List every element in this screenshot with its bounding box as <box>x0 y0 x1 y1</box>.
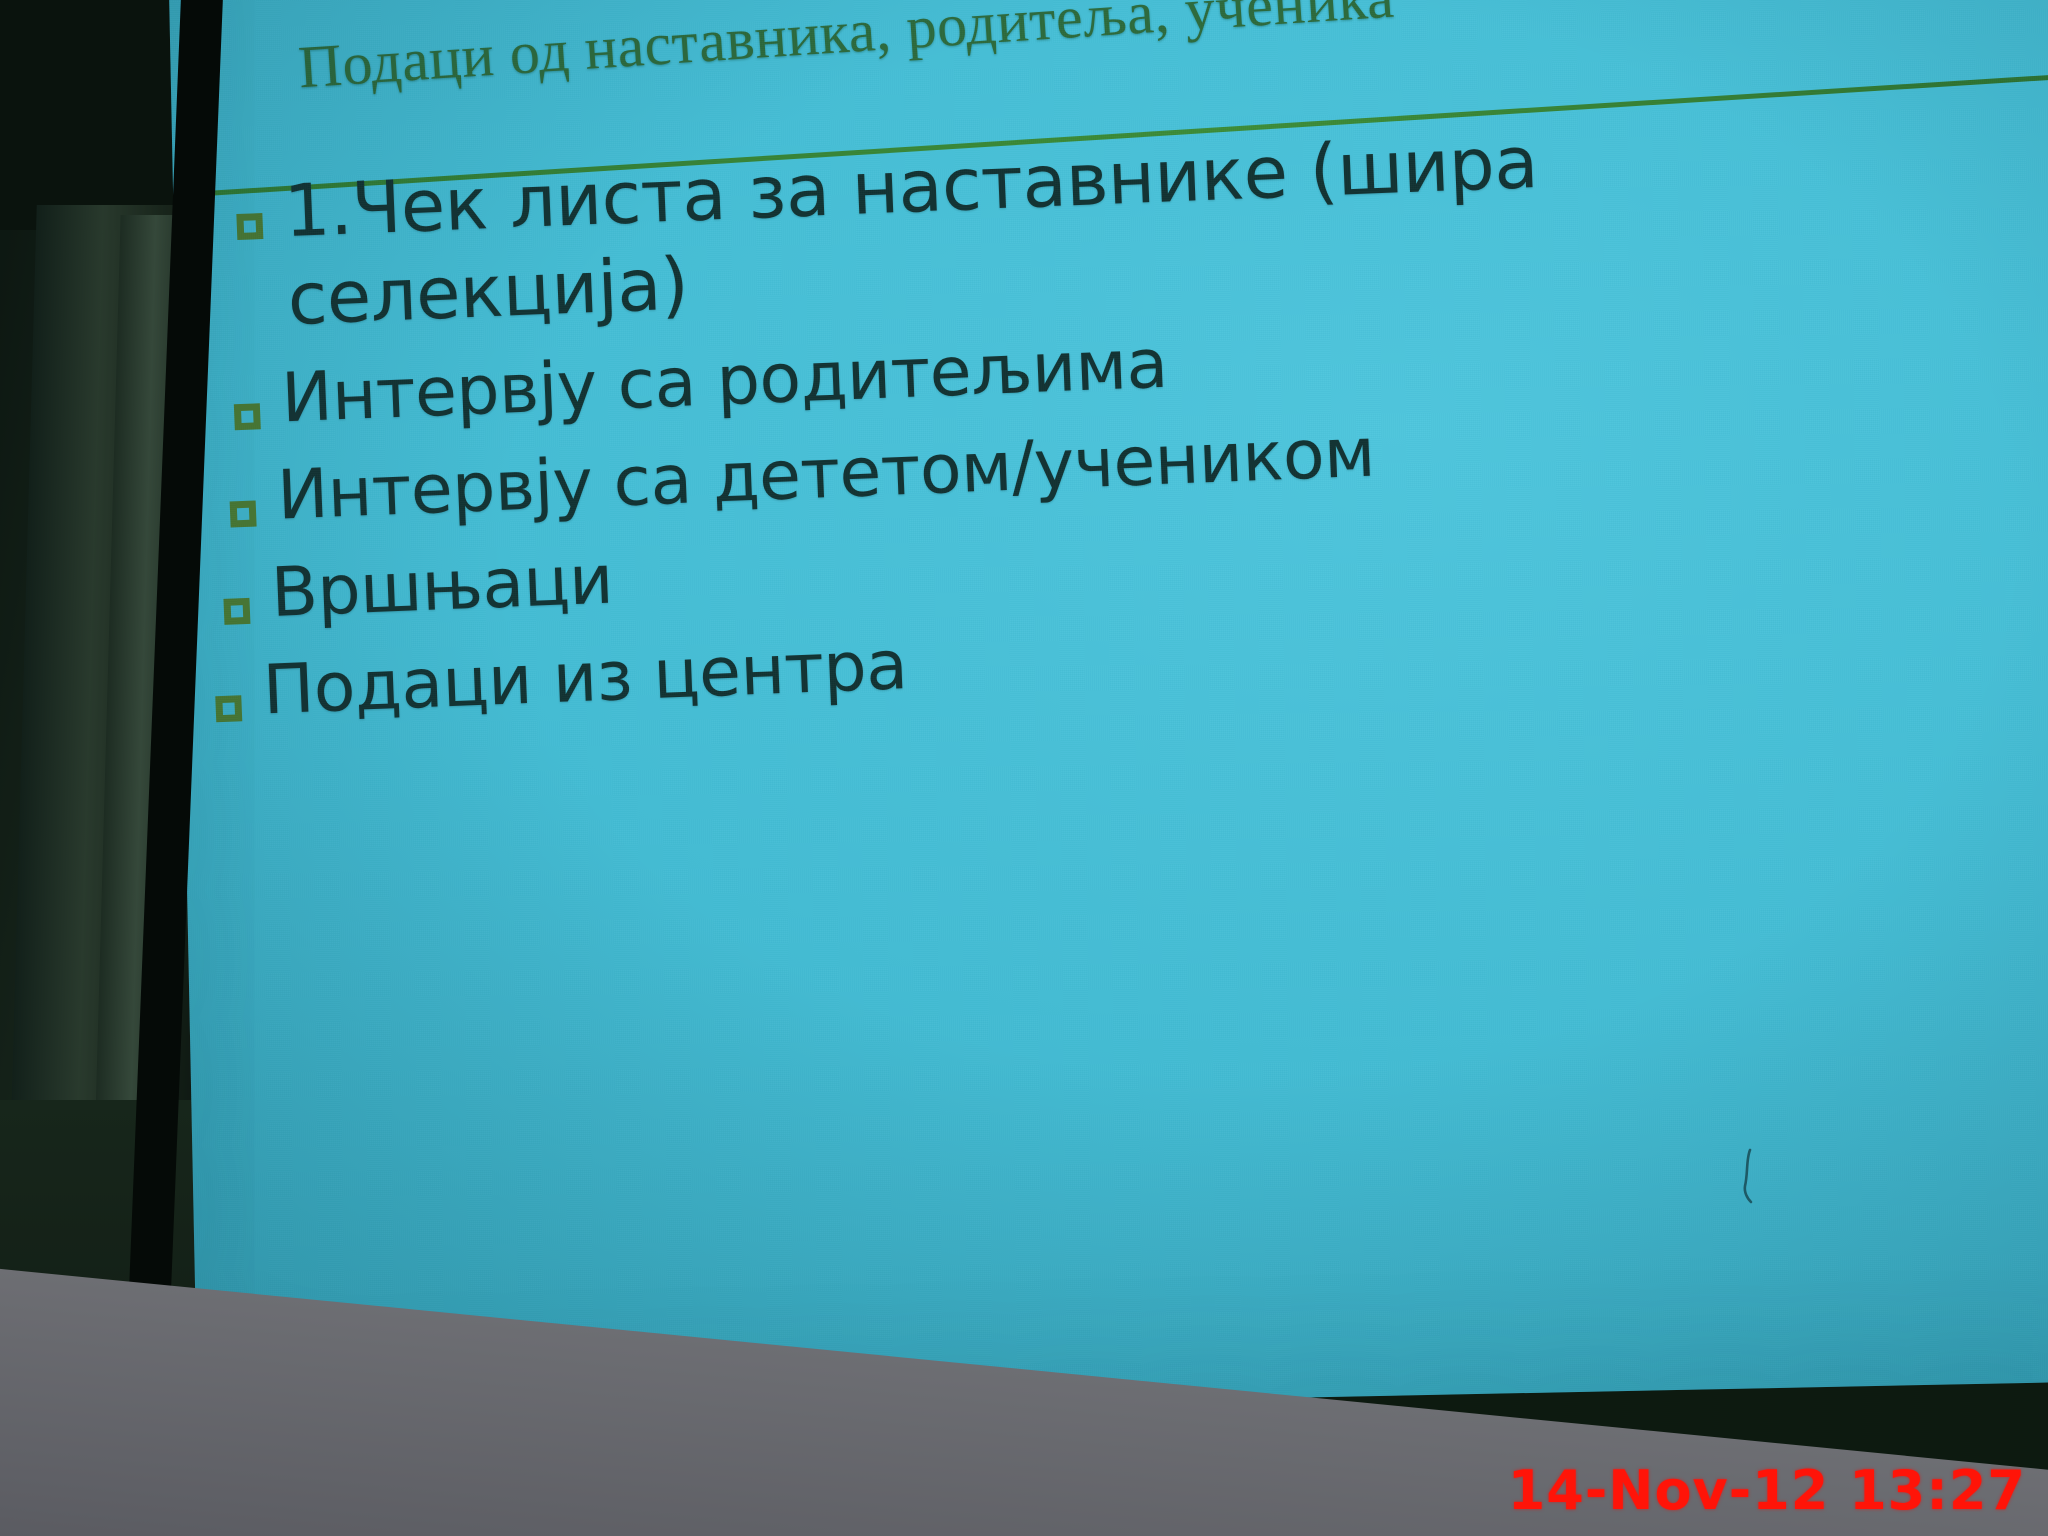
list-item-label: Интервју са родитељима <box>280 323 1169 441</box>
square-bullet-icon <box>215 695 242 722</box>
camera-datestamp: 14-Nov-12 13:27 <box>1508 1459 2026 1522</box>
square-bullet-icon <box>223 597 250 624</box>
list-item-label: Вршњаци <box>270 539 615 635</box>
square-bullet-icon <box>234 403 261 430</box>
square-bullet-icon <box>230 500 257 527</box>
square-bullet-icon <box>236 213 263 240</box>
slide-bullet-list: 1.Чек листа за наставнике (шира селекциј… <box>203 110 1784 748</box>
photograph-of-projected-slide: Подаци од наставника, родитеља, ученика … <box>0 0 2048 1536</box>
list-item-label: Подаци из центра <box>261 625 908 733</box>
slide-title: Подаци од наставника, родитеља, ученика <box>296 0 2048 102</box>
presentation-slide: Подаци од наставника, родитеља, ученика … <box>168 0 2048 1420</box>
projection-screen: Подаци од наставника, родитеља, ученика … <box>168 0 2048 1420</box>
